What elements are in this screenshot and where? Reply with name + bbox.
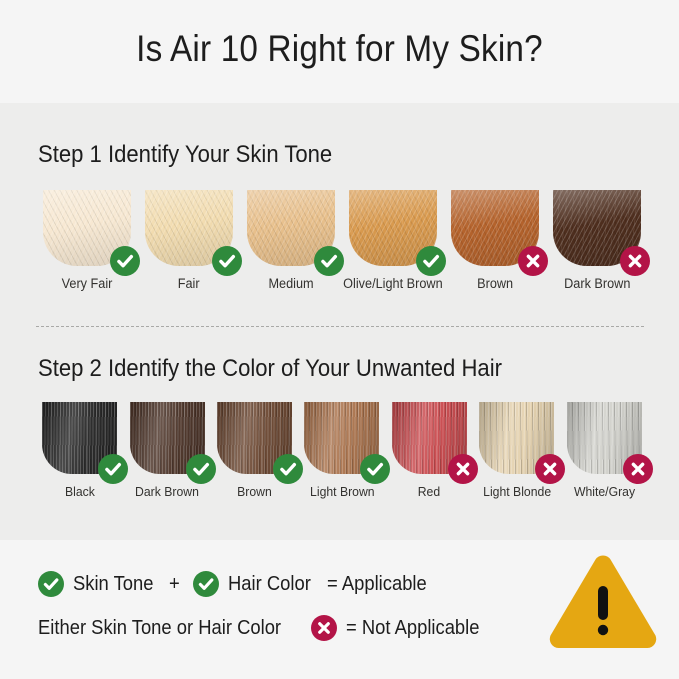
skin-tone-label: Brown (477, 276, 513, 291)
hair-color-label: Dark Brown (135, 484, 199, 499)
skin-tone-swatch-wrap (451, 190, 539, 266)
skin-tone-swatch-row: Very FairFairMediumOlive/Light BrownBrow… (36, 190, 648, 291)
hair-color-swatch-wrap (567, 402, 642, 474)
cross-icon (518, 246, 548, 276)
legend-applicable-result: = Applicable (327, 573, 427, 596)
skin-tone-swatch-cell[interactable]: Olive/Light Brown (342, 190, 444, 291)
cross-icon (311, 615, 337, 641)
legend-skin-tone-label: Skin Tone (73, 573, 153, 596)
skin-tone-label: Dark Brown (564, 276, 630, 291)
hair-color-swatch-cell[interactable]: Black (36, 402, 123, 499)
hair-color-swatch-wrap (479, 402, 554, 474)
skin-tone-swatch-wrap (349, 190, 437, 266)
step1-heading: Step 1 Identify Your Skin Tone (38, 141, 332, 169)
check-icon (38, 571, 64, 597)
skin-tone-swatch-cell[interactable]: Very Fair (36, 190, 138, 291)
hair-color-swatch-cell[interactable]: Red (386, 402, 473, 499)
legend-hair-color-label: Hair Color (228, 573, 311, 596)
skin-tone-label: Fair (178, 276, 200, 291)
legend-line-applicable: Skin Tone + Hair Color = Applicable (38, 568, 491, 600)
legend-plus-sign: + (169, 573, 180, 596)
hair-color-swatch-wrap (42, 402, 117, 474)
hair-color-label: Light Blonde (483, 484, 551, 499)
skin-tone-label: Very Fair (62, 276, 113, 291)
skin-tone-swatch-wrap (247, 190, 335, 266)
hair-color-label: White/Gray (574, 484, 635, 499)
hair-color-swatch-cell[interactable]: Light Blonde (473, 402, 560, 499)
skin-tone-swatch-wrap (43, 190, 131, 266)
skin-tone-label: Medium (268, 276, 313, 291)
hair-color-label: Brown (237, 484, 272, 499)
cross-icon (623, 454, 653, 484)
skin-tone-swatch-wrap (553, 190, 641, 266)
skin-tone-label: Olive/Light Brown (343, 276, 442, 291)
skin-tone-swatch-cell[interactable]: Dark Brown (546, 190, 648, 291)
hair-color-swatch-cell[interactable]: Brown (211, 402, 298, 499)
legend-line-not-applicable: Either Skin Tone or Hair Color = Not App… (38, 612, 491, 644)
skin-tone-swatch-cell[interactable]: Fair (138, 190, 240, 291)
hair-color-swatch-cell[interactable]: Dark Brown (123, 402, 210, 499)
check-icon (314, 246, 344, 276)
hair-color-label: Red (418, 484, 440, 499)
hair-color-swatch-cell[interactable]: Light Brown (298, 402, 385, 499)
section-divider (36, 326, 644, 327)
hair-color-swatch-row: BlackDark BrownBrownLight BrownRedLight … (36, 402, 648, 499)
skin-tone-swatch-wrap (145, 190, 233, 266)
check-icon (110, 246, 140, 276)
hair-color-label: Light Brown (310, 484, 375, 499)
hair-color-swatch-cell[interactable]: White/Gray (561, 402, 648, 499)
legend-either-label: Either Skin Tone or Hair Color (38, 617, 281, 640)
page-title: Is Air 10 Right for My Skin? (34, 28, 645, 70)
cross-icon (620, 246, 650, 276)
hair-color-swatch-wrap (304, 402, 379, 474)
step2-heading: Step 2 Identify the Color of Your Unwant… (38, 355, 502, 383)
skin-tone-swatch-cell[interactable]: Medium (240, 190, 342, 291)
skin-tone-swatch-cell[interactable]: Brown (444, 190, 546, 291)
legend: Skin Tone + Hair Color = Applicable Eith… (38, 568, 491, 644)
hair-color-swatch-wrap (217, 402, 292, 474)
check-icon (212, 246, 242, 276)
hair-color-swatch-wrap (392, 402, 467, 474)
hair-color-label: Black (65, 484, 95, 499)
check-icon (193, 571, 219, 597)
warning-triangle-icon (545, 551, 661, 651)
check-icon (416, 246, 446, 276)
legend-not-applicable-result: = Not Applicable (346, 617, 480, 640)
hair-color-swatch-wrap (130, 402, 205, 474)
